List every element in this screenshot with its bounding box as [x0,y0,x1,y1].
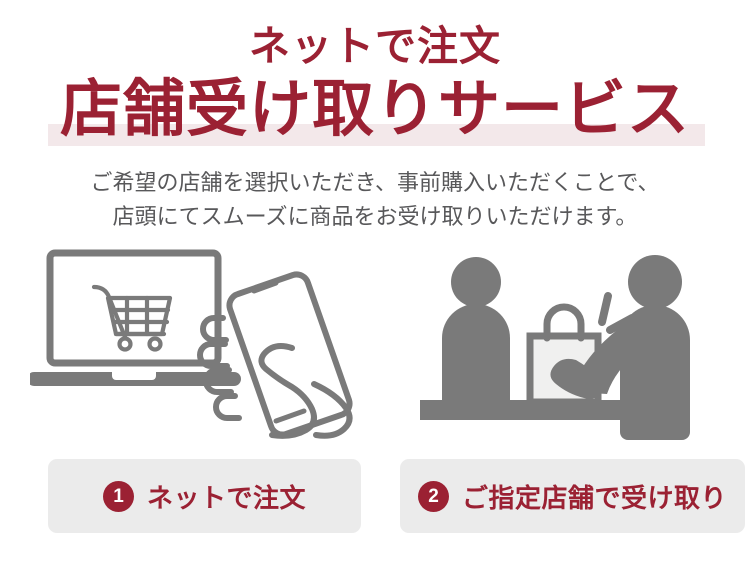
banner-header: ネットで注文 店舗受け取りサービス [0,0,750,155]
hand-holding-smartphone-icon [200,274,350,435]
step-number-badge-2: 2 [418,481,449,512]
step-button-2[interactable]: 2 ご指定店舗で受け取り [400,459,745,533]
store-pickup-illustration [420,248,730,444]
step-label-1: ネットで注文 [147,478,306,515]
banner-description: ご希望の店舗を選択いただき、事前購入いただくことで、 店頭にてスムーズに商品をお… [0,166,750,234]
step-button-1[interactable]: 1 ネットで注文 [48,459,361,533]
step-number-badge-1: 1 [103,481,134,512]
description-line-1: ご希望の店舗を選択いただき、事前購入いただくことで、 [0,166,750,200]
banner-subtitle-heading: ネットで注文 [0,22,750,70]
banner-main-heading: 店舗受け取りサービス [0,73,750,147]
online-order-illustration [30,248,380,444]
step-button-row: 1 ネットで注文 2 ご指定店舗で受け取り [0,459,750,535]
shopping-cart-icon [94,287,170,350]
description-line-2: 店頭にてスムーズに商品をお受け取りいただけます。 [0,200,750,234]
customer-figure-icon [442,257,510,400]
store-pickup-service-banner: ネットで注文 店舗受け取りサービス ご希望の店舗を選択いただき、事前購入いただく… [0,0,750,570]
illustration-row [0,248,750,444]
step-label-2: ご指定店舗で受け取り [462,478,727,515]
